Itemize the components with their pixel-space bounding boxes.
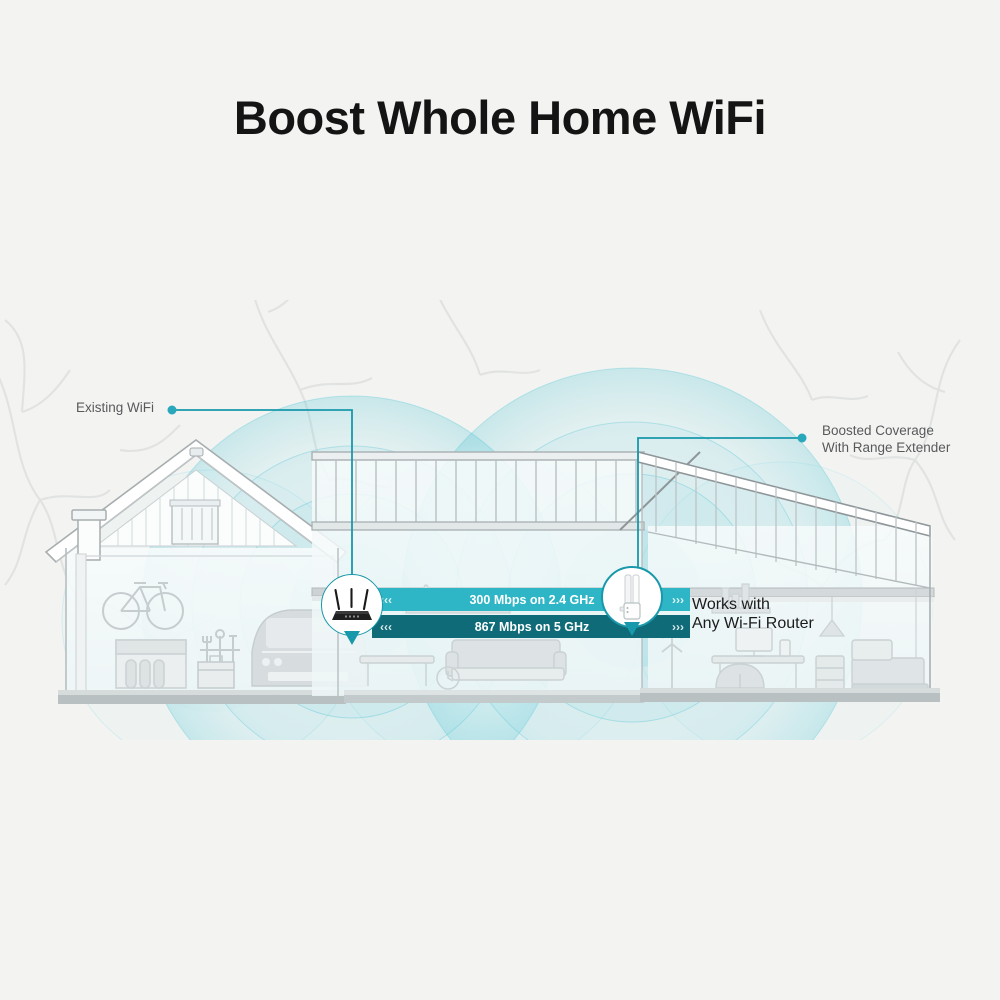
workbench	[116, 640, 186, 688]
callout-boosted-coverage: Boosted Coverage With Range Extender	[822, 423, 950, 456]
router-pin	[321, 574, 383, 636]
house-illustration	[0, 300, 1000, 740]
page-title: Boost Whole Home WiFi	[0, 92, 1000, 144]
chevron-left-icon-5ghz: ‹‹‹	[380, 620, 422, 634]
illustration-stage: Boost Whole Home WiFi	[0, 0, 1000, 1000]
range-extender-pin	[601, 566, 663, 628]
callout-existing-wifi: Existing WiFi	[76, 400, 154, 417]
chevron-left-icon-2-4ghz: ‹‹‹	[380, 593, 422, 607]
router-pin-tip	[344, 631, 360, 645]
extender-pin-tip	[624, 622, 640, 636]
range-extender-icon	[615, 573, 649, 621]
compatibility-note: Works with Any Wi-Fi Router	[692, 595, 814, 633]
speed-bar-label-5ghz: 867 Mbps on 5 GHz	[422, 620, 642, 634]
wifi-router-icon	[328, 585, 376, 625]
